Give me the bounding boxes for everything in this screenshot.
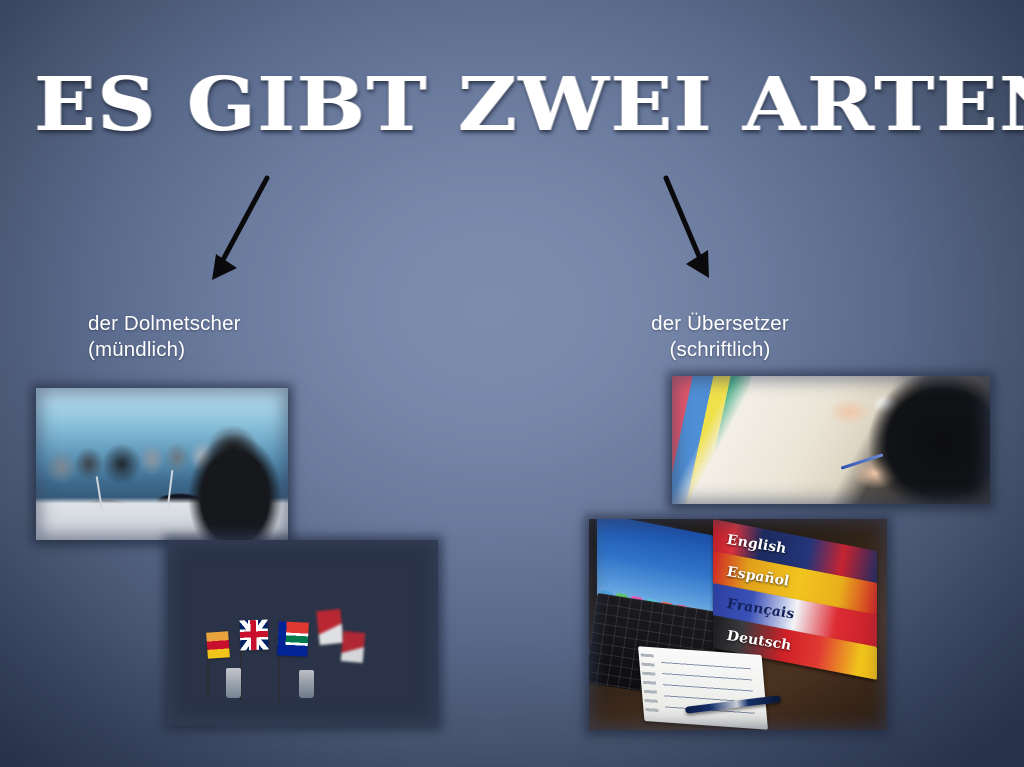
flag-united-kingdom bbox=[239, 620, 268, 651]
notepad-spiral bbox=[640, 650, 659, 718]
dictionary-espanol-label: Español bbox=[727, 563, 789, 589]
water-glass bbox=[299, 670, 314, 698]
dictionary-english-label: English bbox=[727, 531, 786, 556]
photo-dictionaries-image: English Español Français Deutsch bbox=[589, 519, 887, 730]
dictionary-francais-label: Français bbox=[727, 595, 794, 622]
pen-icon bbox=[841, 453, 884, 469]
microphone-icon bbox=[167, 470, 173, 506]
caption-translator-heading: der Übersetzer bbox=[560, 311, 880, 337]
photo-reading bbox=[672, 376, 990, 504]
flag-south-africa bbox=[277, 621, 309, 657]
photo-reading-image bbox=[672, 376, 990, 504]
flag-spain bbox=[206, 631, 230, 658]
notepad bbox=[638, 646, 768, 729]
caption-interpreter-subheading: (mündlich) bbox=[88, 337, 388, 363]
presentation-slide: Es gibt zwei Arten: der Dolmetscher (mün… bbox=[0, 0, 1024, 767]
page-title: Es gibt zwei Arten: bbox=[34, 62, 993, 148]
flag-red-white bbox=[341, 631, 366, 663]
arrow-to-translator bbox=[650, 168, 760, 293]
caption-translator: der Übersetzer (schriftlich) bbox=[560, 311, 880, 363]
dictionary-deutsch-label: Deutsch bbox=[727, 627, 791, 653]
microphone-icon bbox=[96, 476, 103, 510]
flag-red-white bbox=[316, 609, 343, 645]
photo-flags bbox=[168, 540, 438, 725]
photo-interpreting bbox=[36, 388, 288, 540]
caption-interpreter: der Dolmetscher (mündlich) bbox=[88, 311, 388, 363]
photo-flags-image bbox=[168, 540, 438, 725]
photo-interpreting-image bbox=[36, 388, 288, 540]
caption-translator-subheading: (schriftlich) bbox=[560, 337, 880, 363]
arrow-to-interpreter bbox=[195, 168, 305, 293]
water-glass bbox=[226, 668, 241, 698]
photo-dictionaries: English Español Français Deutsch bbox=[589, 519, 887, 730]
caption-interpreter-heading: der Dolmetscher bbox=[88, 311, 388, 337]
